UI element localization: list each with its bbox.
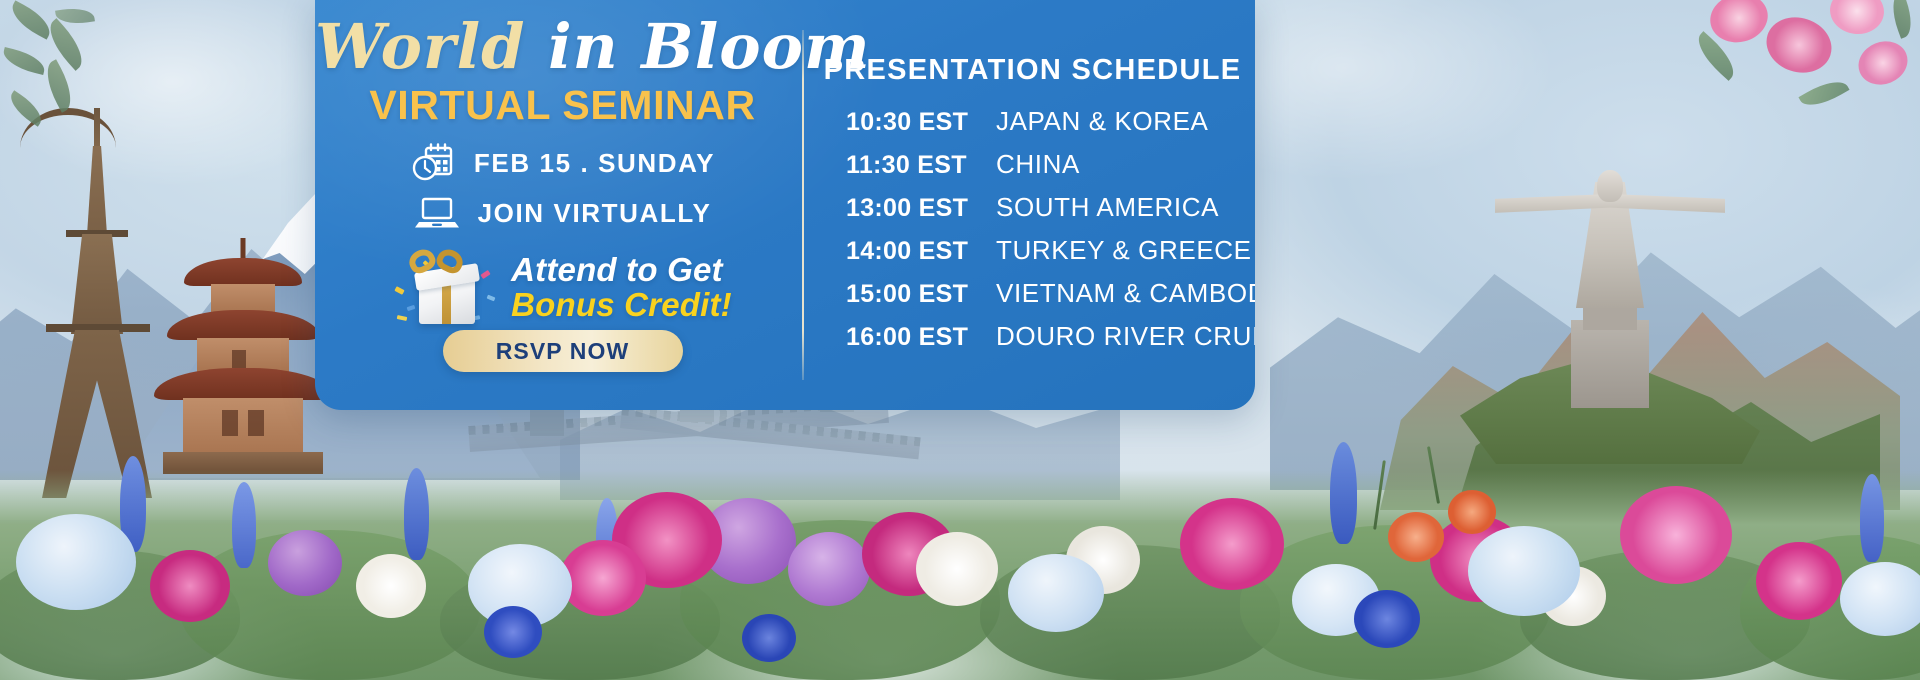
schedule-time: 15:00 EST: [846, 280, 996, 309]
schedule-column: PRESENTATION SCHEDULE 10:30 EST JAPAN & …: [810, 0, 1255, 410]
schedule-destination: JAPAN & KOREA: [996, 106, 1209, 137]
event-date-label: FEB 15 . SUNDAY: [474, 148, 715, 179]
bonus-line-2: Bonus Credit!: [511, 288, 732, 323]
schedule-row: 14:00 EST TURKEY & GREECE: [846, 235, 1241, 278]
gift-box-icon: [393, 244, 497, 332]
christ-the-redeemer-icon: [1480, 108, 1740, 408]
event-format-label: JOIN VIRTUALLY: [478, 198, 712, 229]
schedule-time: 11:30 EST: [846, 151, 996, 180]
bonus-text: Attend to Get Bonus Credit!: [511, 253, 732, 323]
rsvp-now-button[interactable]: RSVP NOW: [443, 330, 683, 372]
schedule-destination: VIETNAM & CAMBODIA: [996, 278, 1255, 309]
schedule-row: 13:00 EST SOUTH AMERICA: [846, 192, 1241, 235]
page-title: World in Bloom: [315, 14, 810, 81]
schedule-time: 14:00 EST: [846, 237, 996, 266]
schedule-row: 16:00 EST DOURO RIVER CRUISING: [846, 321, 1241, 364]
bonus-line-1: Attend to Get: [511, 253, 732, 288]
schedule-time: 16:00 EST: [846, 323, 996, 352]
leaf-spray-icon: [0, 0, 150, 150]
schedule-row: 10:30 EST JAPAN & KOREA: [846, 106, 1241, 149]
schedule-time: 10:30 EST: [846, 108, 996, 137]
event-details-column: World in Bloom VIRTUAL SEMINAR: [315, 0, 810, 410]
bonus-offer: Attend to Get Bonus Credit!: [315, 244, 810, 332]
schedule-time: 13:00 EST: [846, 194, 996, 223]
schedule-list: 10:30 EST JAPAN & KOREA 11:30 EST CHINA …: [846, 106, 1241, 364]
schedule-destination: CHINA: [996, 149, 1080, 180]
schedule-row: 15:00 EST VIETNAM & CAMBODIA: [846, 278, 1241, 321]
top-right-flower-cluster: [1680, 0, 1920, 128]
schedule-destination: TURKEY & GREECE: [996, 235, 1252, 266]
schedule-destination: SOUTH AMERICA: [996, 192, 1219, 223]
schedule-heading: PRESENTATION SCHEDULE: [810, 54, 1255, 87]
laptop-icon: [414, 190, 460, 236]
title-word-world: World: [315, 10, 526, 83]
subtitle: VIRTUAL SEMINAR: [315, 82, 810, 129]
event-format-row: JOIN VIRTUALLY: [315, 190, 810, 236]
promo-panel: World in Bloom VIRTUAL SEMINAR: [315, 0, 1255, 410]
schedule-row: 11:30 EST CHINA: [846, 149, 1241, 192]
schedule-destination: DOURO RIVER CRUISING: [996, 321, 1255, 352]
event-date-row: FEB 15 . SUNDAY: [315, 140, 810, 186]
column-divider: [802, 30, 804, 380]
calendar-clock-icon: [410, 140, 456, 186]
flower-garden: [0, 380, 1920, 680]
